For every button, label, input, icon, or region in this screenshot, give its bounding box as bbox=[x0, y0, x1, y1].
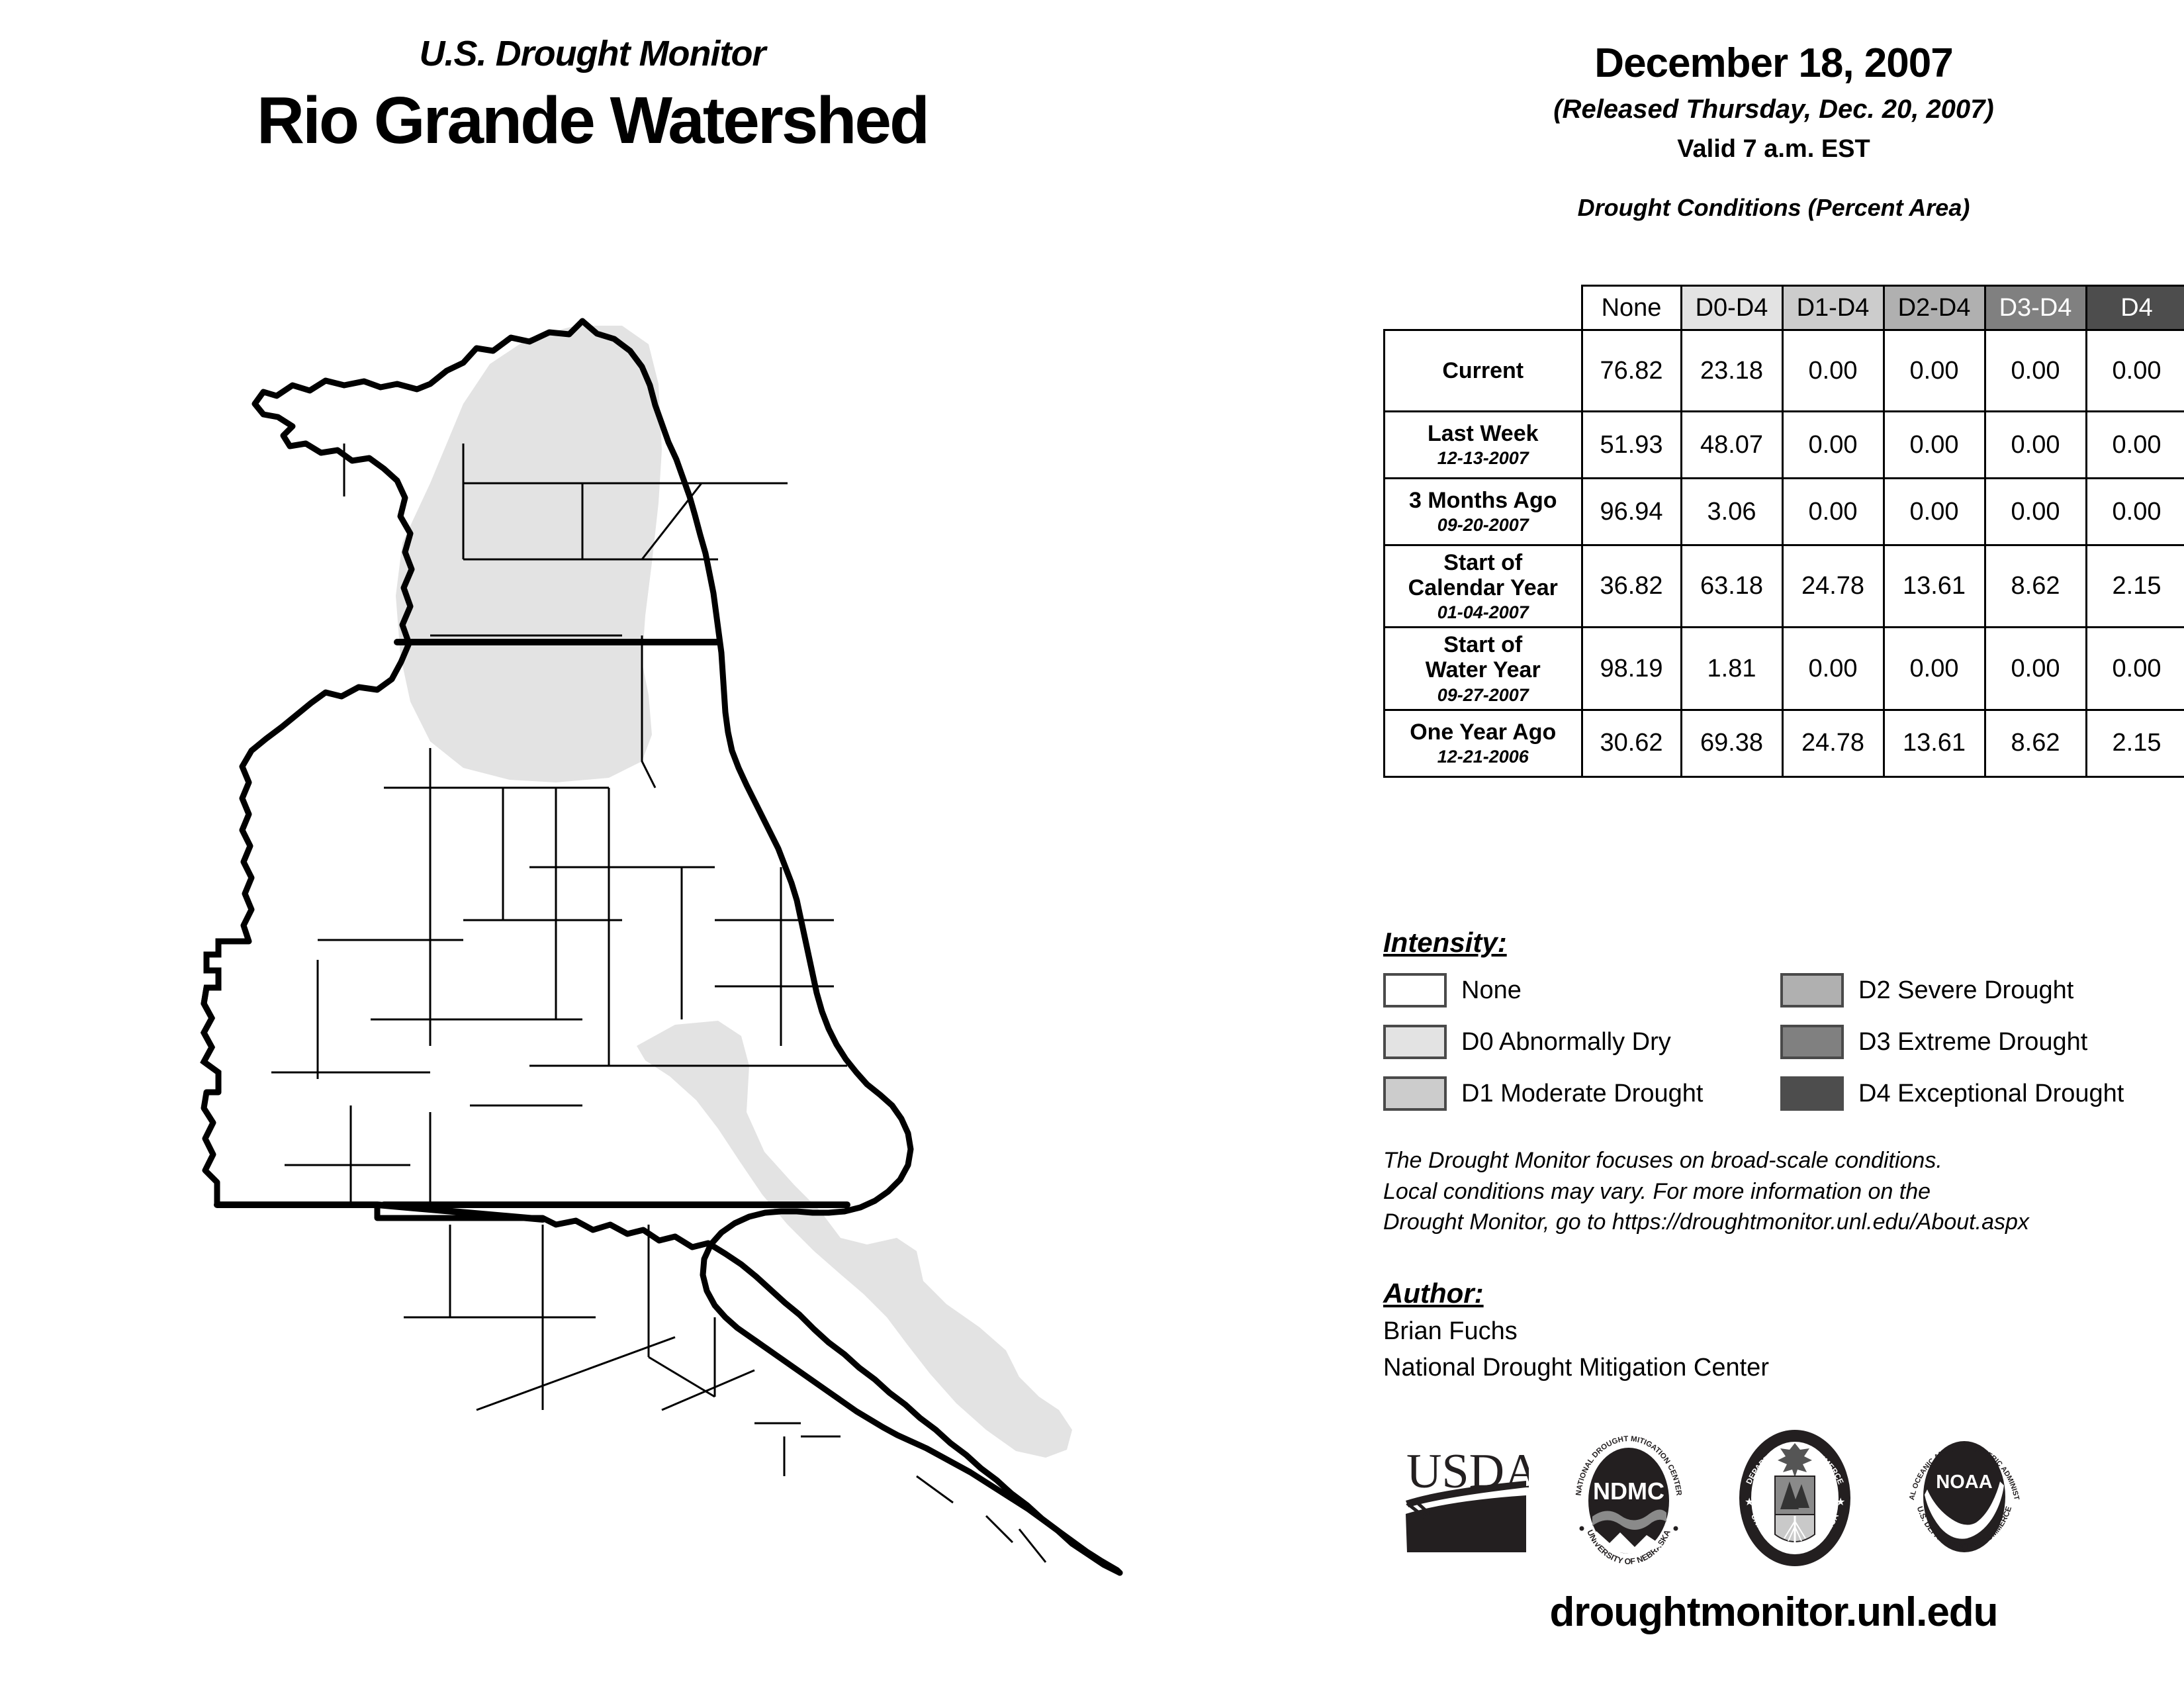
table-cell: 69.38 bbox=[1681, 710, 1782, 776]
legend-grid: NoneD2 Severe DroughtD0 Abnormally DryD3… bbox=[1383, 973, 2177, 1111]
site-url[interactable]: droughtmonitor.unl.edu bbox=[1363, 1589, 2184, 1636]
row-label: Current bbox=[1385, 330, 1582, 412]
table-cell: 0.00 bbox=[1782, 628, 1884, 710]
map-svg[interactable] bbox=[119, 285, 1277, 1602]
intensity-legend: Intensity: NoneD2 Severe DroughtD0 Abnor… bbox=[1383, 927, 2177, 1111]
legend-swatch bbox=[1383, 1076, 1447, 1111]
header-spacer bbox=[1385, 286, 1582, 330]
table-cell: 24.78 bbox=[1782, 545, 1884, 628]
legend-swatch bbox=[1383, 973, 1447, 1008]
table-cell: 63.18 bbox=[1681, 545, 1782, 628]
table-cell: 3.06 bbox=[1681, 479, 1782, 545]
table-cell: 0.00 bbox=[2086, 330, 2184, 412]
legend-item: None bbox=[1383, 973, 1780, 1008]
date-block: December 18, 2007 (Released Thursday, De… bbox=[1363, 0, 2184, 164]
column-header-d2-d4: D2-D4 bbox=[1884, 286, 1985, 330]
legend-label: None bbox=[1461, 976, 1522, 1005]
author-name: Brian Fuchs bbox=[1383, 1317, 2164, 1346]
author-affiliation: National Drought Mitigation Center bbox=[1383, 1354, 2164, 1382]
row-label: Last Week12-13-2007 bbox=[1385, 412, 1582, 479]
table-cell: 0.00 bbox=[1782, 412, 1884, 479]
table-cell: 13.61 bbox=[1884, 545, 1985, 628]
row-label: 3 Months Ago09-20-2007 bbox=[1385, 479, 1582, 545]
table-cell: 0.00 bbox=[1985, 479, 2086, 545]
table-cell: 8.62 bbox=[1985, 545, 2086, 628]
table-cell: 96.94 bbox=[1582, 479, 1681, 545]
legend-swatch bbox=[1383, 1025, 1447, 1059]
column-header-d1-d4: D1-D4 bbox=[1782, 286, 1884, 330]
legend-label: D4 Exceptional Drought bbox=[1858, 1080, 2124, 1108]
author-block: Author: Brian Fuchs National Drought Mit… bbox=[1383, 1278, 2164, 1382]
drought-area-d0-upper bbox=[396, 326, 662, 782]
table-row: Start ofCalendar Year01-04-200736.8263.1… bbox=[1385, 545, 2184, 628]
table-cell: 30.62 bbox=[1582, 710, 1681, 776]
table-cell: 0.00 bbox=[1985, 628, 2086, 710]
legend-label: D0 Abnormally Dry bbox=[1461, 1028, 1671, 1056]
svg-text:NDMC: NDMC bbox=[1593, 1477, 1664, 1505]
table-cell: 0.00 bbox=[1985, 330, 2086, 412]
disclaimer-line-1: The Drought Monitor focuses on broad-sca… bbox=[1383, 1145, 2164, 1176]
table-caption: Drought Conditions (Percent Area) bbox=[1363, 194, 2184, 222]
column-header-d0-d4: D0-D4 bbox=[1681, 286, 1782, 330]
western-notch bbox=[204, 941, 249, 1092]
legend-label: D1 Moderate Drought bbox=[1461, 1080, 1703, 1108]
legend-item: D4 Exceptional Drought bbox=[1780, 1076, 2177, 1111]
table-header-row: None D0-D4 D1-D4 D2-D4 D3-D4 D4 bbox=[1385, 286, 2184, 330]
table-cell: 51.93 bbox=[1582, 412, 1681, 479]
table-cell: 0.00 bbox=[1884, 412, 1985, 479]
row-label: Start ofCalendar Year01-04-2007 bbox=[1385, 545, 1582, 628]
table-cell: 0.00 bbox=[1782, 330, 1884, 412]
svg-text:★: ★ bbox=[1836, 1497, 1845, 1508]
legend-label: D3 Extreme Drought bbox=[1858, 1028, 2087, 1056]
row-label: One Year Ago12-21-2006 bbox=[1385, 710, 1582, 776]
doc-seal: DEPARTMENT OF COMMERCE UNITED STATES OF … bbox=[1729, 1429, 1861, 1571]
legend-item: D0 Abnormally Dry bbox=[1383, 1025, 1780, 1059]
row-label-date: 09-20-2007 bbox=[1388, 515, 1578, 535]
release-date: December 18, 2007 bbox=[1363, 40, 2184, 87]
logo-row: USDA NATIONAL DROUGHT MITIGATION CENTER bbox=[1383, 1423, 2164, 1575]
row-label-name: Current bbox=[1388, 358, 1578, 383]
legend-swatch bbox=[1780, 1076, 1844, 1111]
table-cell: 2.15 bbox=[2086, 710, 2184, 776]
rio-grande-watershed-map[interactable] bbox=[119, 285, 1277, 1602]
table-cell: 23.18 bbox=[1681, 330, 1782, 412]
row-label-date: 12-13-2007 bbox=[1388, 448, 1578, 468]
table-row: One Year Ago12-21-200630.6269.3824.7813.… bbox=[1385, 710, 2184, 776]
row-label-name: One Year Ago bbox=[1388, 720, 1578, 745]
legend-item: D3 Extreme Drought bbox=[1780, 1025, 2177, 1059]
row-label-date: 12-21-2006 bbox=[1388, 747, 1578, 767]
ndmc-logo: NATIONAL DROUGHT MITIGATION CENTER UNIVE… bbox=[1566, 1432, 1692, 1568]
released-note: (Released Thursday, Dec. 20, 2007) bbox=[1363, 95, 2184, 124]
table-row: 3 Months Ago09-20-200796.943.060.000.000… bbox=[1385, 479, 2184, 545]
usda-logo: USDA bbox=[1403, 1440, 1529, 1559]
disclaimer-line-2: Local conditions may vary. For more info… bbox=[1383, 1176, 2164, 1207]
row-label-date: 01-04-2007 bbox=[1388, 602, 1578, 622]
table-cell: 8.62 bbox=[1985, 710, 2086, 776]
row-label-name: 3 Months Ago bbox=[1388, 488, 1578, 513]
conditions-table: None D0-D4 D1-D4 D2-D4 D3-D4 D4 Current7… bbox=[1383, 285, 2184, 778]
table-cell: 0.00 bbox=[2086, 628, 2184, 710]
table-cell: 2.15 bbox=[2086, 545, 2184, 628]
noaa-logo: NATIONAL OCEANIC AND ATMOSPHERIC ADMINIS… bbox=[1898, 1429, 2030, 1571]
drought-conditions-table: None D0-D4 D1-D4 D2-D4 D3-D4 D4 Current7… bbox=[1383, 285, 2164, 778]
page-title: Rio Grande Watershed bbox=[0, 86, 1185, 156]
column-header-d3-d4: D3-D4 bbox=[1985, 286, 2086, 330]
disclaimer-line-3: Drought Monitor, go to https://droughtmo… bbox=[1383, 1207, 2164, 1238]
table-cell: 1.81 bbox=[1681, 628, 1782, 710]
table-cell: 0.00 bbox=[1884, 330, 1985, 412]
row-label-name: Last Week bbox=[1388, 421, 1578, 446]
table-cell: 13.61 bbox=[1884, 710, 1985, 776]
table-cell: 98.19 bbox=[1582, 628, 1681, 710]
map-panel: U.S. Drought Monitor Rio Grande Watershe… bbox=[0, 0, 1363, 1688]
table-row: Last Week12-13-200751.9348.070.000.000.0… bbox=[1385, 412, 2184, 479]
table-body: Current76.8223.180.000.000.000.00Last We… bbox=[1385, 330, 2184, 777]
table-cell: 0.00 bbox=[2086, 479, 2184, 545]
valid-time: Valid 7 a.m. EST bbox=[1363, 135, 2184, 164]
disclaimer-text: The Drought Monitor focuses on broad-sca… bbox=[1383, 1145, 2164, 1238]
table-cell: 24.78 bbox=[1782, 710, 1884, 776]
page-subtitle: U.S. Drought Monitor bbox=[0, 33, 1185, 74]
table-cell: 0.00 bbox=[2086, 412, 2184, 479]
legend-item: D2 Severe Drought bbox=[1780, 973, 2177, 1008]
row-label-name: Start ofCalendar Year bbox=[1388, 550, 1578, 600]
svg-text:★: ★ bbox=[1745, 1497, 1754, 1508]
table-cell: 0.00 bbox=[1985, 412, 2086, 479]
author-title: Author: bbox=[1383, 1278, 2164, 1309]
table-row: Current76.8223.180.000.000.000.00 bbox=[1385, 330, 2184, 412]
column-header-none: None bbox=[1582, 286, 1681, 330]
svg-text:NOAA: NOAA bbox=[1936, 1472, 1992, 1493]
column-header-d4: D4 bbox=[2086, 286, 2184, 330]
title-block: U.S. Drought Monitor Rio Grande Watershe… bbox=[0, 33, 1185, 156]
row-label-date: 09-27-2007 bbox=[1388, 685, 1578, 705]
table-cell: 0.00 bbox=[1884, 479, 1985, 545]
legend-swatch bbox=[1780, 973, 1844, 1008]
legend-item: D1 Moderate Drought bbox=[1383, 1076, 1780, 1111]
intensity-title: Intensity: bbox=[1383, 927, 2177, 959]
table-cell: 36.82 bbox=[1582, 545, 1681, 628]
table-cell: 48.07 bbox=[1681, 412, 1782, 479]
table-cell: 76.82 bbox=[1582, 330, 1681, 412]
legend-swatch bbox=[1780, 1025, 1844, 1059]
legend-label: D2 Severe Drought bbox=[1858, 976, 2073, 1005]
county-boundaries bbox=[271, 444, 1046, 1562]
table-cell: 0.00 bbox=[1782, 479, 1884, 545]
table-cell: 0.00 bbox=[1884, 628, 1985, 710]
table-row: Start ofWater Year09-27-200798.191.810.0… bbox=[1385, 628, 2184, 710]
row-label-name: Start ofWater Year bbox=[1388, 632, 1578, 682]
info-panel: December 18, 2007 (Released Thursday, De… bbox=[1363, 0, 2184, 1688]
row-label: Start ofWater Year09-27-2007 bbox=[1385, 628, 1582, 710]
